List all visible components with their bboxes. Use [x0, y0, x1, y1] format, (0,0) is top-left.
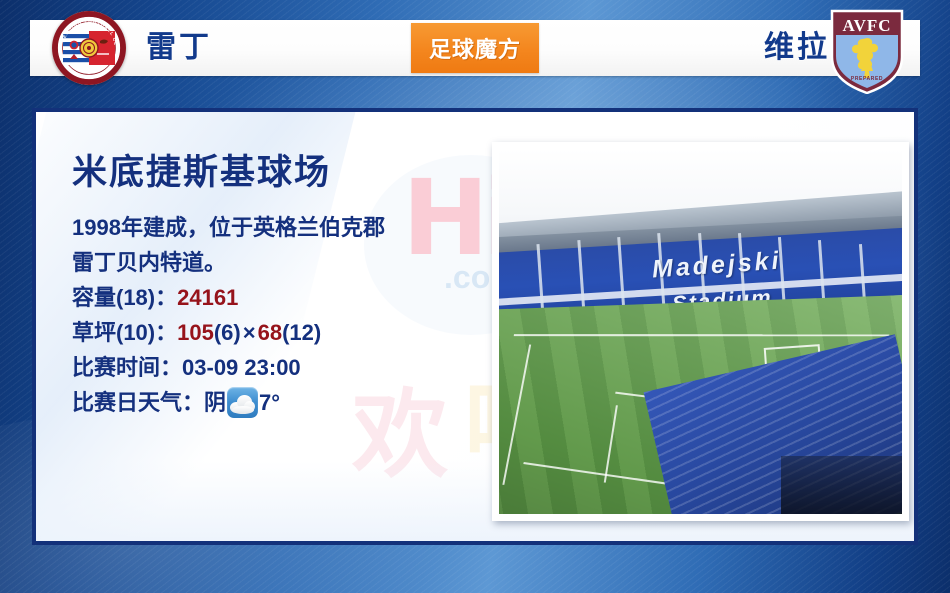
stadium-description-line-2: 雷丁贝内特道。 [72, 245, 385, 280]
stadium-pitch-row: 草坪(10)：105(6)×68(12) [72, 315, 385, 350]
pitch-label: 草坪(10)： [72, 320, 177, 345]
match-time-value: 03-09 23:00 [182, 355, 301, 380]
match-weather-row: 比赛日天气：阴7° [72, 385, 385, 420]
site-logo-text: 足球魔方 [429, 32, 521, 64]
match-time-row: 比赛时间：03-09 23:00 [72, 350, 385, 385]
svg-text:PREPARED: PREPARED [851, 76, 883, 82]
svg-text:AVFC: AVFC [842, 16, 891, 35]
home-team-name: 雷丁 [146, 28, 212, 68]
match-header: READING FOOTBALL CLUB EST. 1871 雷丁 足球魔方 … [0, 0, 950, 96]
cloudy-icon [227, 387, 258, 418]
stadium-info-text: 米底捷斯基球场 1998年建成，位于英格兰伯克郡 雷丁贝内特道。 容量(18)：… [72, 150, 385, 420]
site-logo[interactable]: 足球魔方 [411, 23, 539, 73]
weather-label: 比赛日天气： [72, 385, 204, 420]
pitch-times-symbol: × [241, 320, 258, 345]
pitch-width-value: 68 [258, 320, 282, 345]
weather-condition: 阴 [204, 385, 226, 420]
stadium-title: 米底捷斯基球场 [72, 150, 385, 196]
away-team-name: 维拉 [764, 28, 830, 68]
stadium-description-line-1: 1998年建成，位于英格兰伯克郡 [72, 210, 385, 245]
aston-villa-crest-icon[interactable]: AVFC PREPARED [828, 8, 906, 94]
weather-temperature: 7° [259, 385, 280, 420]
stadium-capacity-row: 容量(18)：24161 [72, 280, 385, 315]
reading-fc-crest-icon[interactable]: READING FOOTBALL CLUB EST. 1871 [52, 11, 126, 85]
pitch-width-rank: (12) [282, 320, 321, 345]
app-root: READING FOOTBALL CLUB EST. 1871 雷丁 足球魔方 … [0, 0, 950, 593]
pitch-length-value: 105 [177, 320, 214, 345]
stadium-info-panel: Hi .com 欢 呼 米底捷斯基球场 1998年建成，位于英格兰伯克郡 雷丁贝… [32, 108, 918, 545]
match-time-label: 比赛时间： [72, 355, 182, 380]
capacity-value: 24161 [177, 285, 238, 310]
stadium-photo-frame[interactable]: Madejski Stadium [492, 142, 909, 521]
capacity-label: 容量(18)： [72, 285, 177, 310]
stadium-photo: Madejski Stadium [499, 149, 902, 514]
pitch-length-rank: (6) [214, 320, 241, 345]
